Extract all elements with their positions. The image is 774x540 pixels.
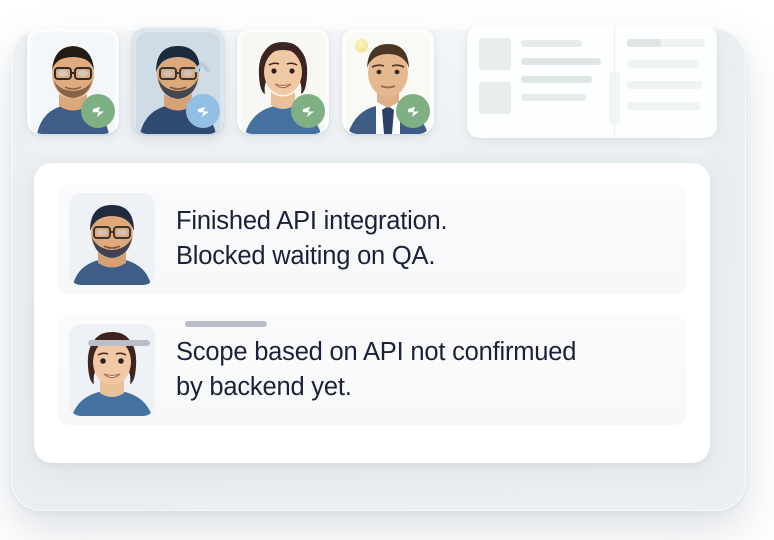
status-update-text: Scope based on API not confirmued by bac… <box>176 335 576 405</box>
placeholder-line <box>521 76 592 83</box>
placeholder-row <box>627 60 699 68</box>
placeholder-thumbnail <box>479 82 511 114</box>
avatar-portrait-message-1 <box>69 193 155 285</box>
progress-bar-upper <box>185 321 267 327</box>
status-update-text: Finished API integration. Blocked waitin… <box>176 204 447 274</box>
avatar <box>69 324 155 416</box>
status-update-line-1: Scope based on API not confirmued <box>176 338 576 366</box>
status-update-row[interactable]: Scope based on API not confirmued by bac… <box>57 315 687 425</box>
placeholder-row-leading-segment <box>627 39 661 47</box>
status-badge-member-4[interactable] <box>396 94 430 128</box>
team-member-rail <box>27 28 434 134</box>
placeholder-line <box>521 40 582 47</box>
avatar <box>69 193 155 285</box>
notification-dot-icon <box>355 39 368 53</box>
placeholder-line <box>521 94 586 101</box>
cursor-arrow-icon <box>404 102 423 121</box>
avatar-card-member-4[interactable] <box>342 28 434 134</box>
status-badge-member-3[interactable] <box>291 94 325 128</box>
avatar-card-member-2[interactable] <box>132 28 224 134</box>
placeholder-thumbnail <box>479 38 511 70</box>
avatar-portrait-message-2 <box>69 324 155 416</box>
status-update-line-2: by backend yet. <box>176 370 576 405</box>
details-placeholder-panel[interactable] <box>467 26 717 138</box>
status-badge-member-1[interactable] <box>81 94 115 128</box>
cursor-arrow-icon <box>194 102 213 121</box>
status-update-line-2: Blocked waiting on QA. <box>176 239 447 274</box>
placeholder-thumbnail-group <box>479 38 511 128</box>
status-update-line-1: Finished API integration. <box>176 207 447 235</box>
cursor-arrow-icon <box>299 102 318 121</box>
placeholder-row <box>627 81 702 89</box>
status-update-list: Finished API integration. Blocked waitin… <box>34 163 710 463</box>
cursor-arrow-icon <box>89 102 108 121</box>
chevron-up-icon[interactable] <box>189 54 215 80</box>
top-strip <box>27 20 717 155</box>
placeholder-left-column <box>467 26 615 138</box>
progress-bar-lower <box>88 340 150 346</box>
avatar-card-member-1[interactable] <box>27 28 119 134</box>
status-update-row[interactable]: Finished API integration. Blocked waitin… <box>57 184 687 294</box>
avatar-card-member-3[interactable] <box>237 28 329 134</box>
placeholder-right-column <box>615 26 717 138</box>
placeholder-row <box>627 102 700 110</box>
placeholder-row <box>627 39 705 47</box>
placeholder-line <box>521 58 601 65</box>
screenshot-root: Finished API integration. Blocked waitin… <box>0 0 774 540</box>
placeholder-line-group <box>521 38 604 128</box>
status-badge-member-2[interactable] <box>186 94 220 128</box>
panel-drag-handle[interactable] <box>609 72 620 124</box>
